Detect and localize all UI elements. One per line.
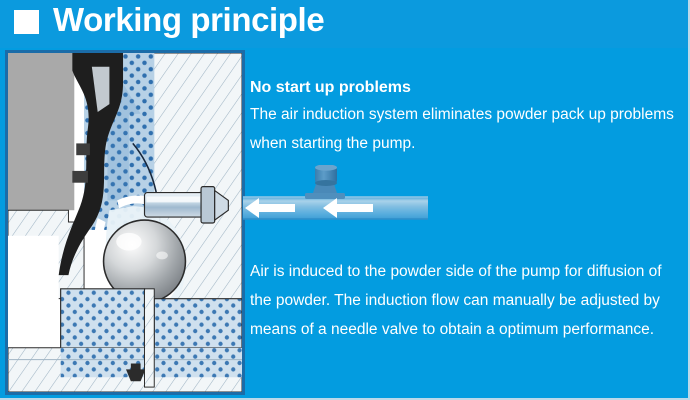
page-title: Working principle: [53, 1, 324, 39]
air-induction-nozzle: [145, 187, 229, 223]
air-induction-pipe: [243, 165, 428, 235]
pipe-svg: [243, 165, 428, 235]
valve-flange: [305, 193, 345, 199]
square-bullet-icon: [14, 10, 39, 34]
paragraph-start-up: The air induction system eliminates powd…: [250, 100, 682, 158]
sub-heading: No start up problems: [250, 78, 680, 98]
pump-cross-section-diagram: [5, 50, 245, 395]
needle-valve: [305, 165, 345, 199]
gray-housing-block: [8, 53, 74, 210]
paragraph-air-induction: Air is induced to the powder side of the…: [250, 257, 675, 344]
header-bar: Working principle: [0, 0, 690, 48]
diagram-svg: [8, 53, 242, 392]
slide-root: Working principle: [0, 0, 690, 400]
ball-highlight: [116, 233, 141, 251]
